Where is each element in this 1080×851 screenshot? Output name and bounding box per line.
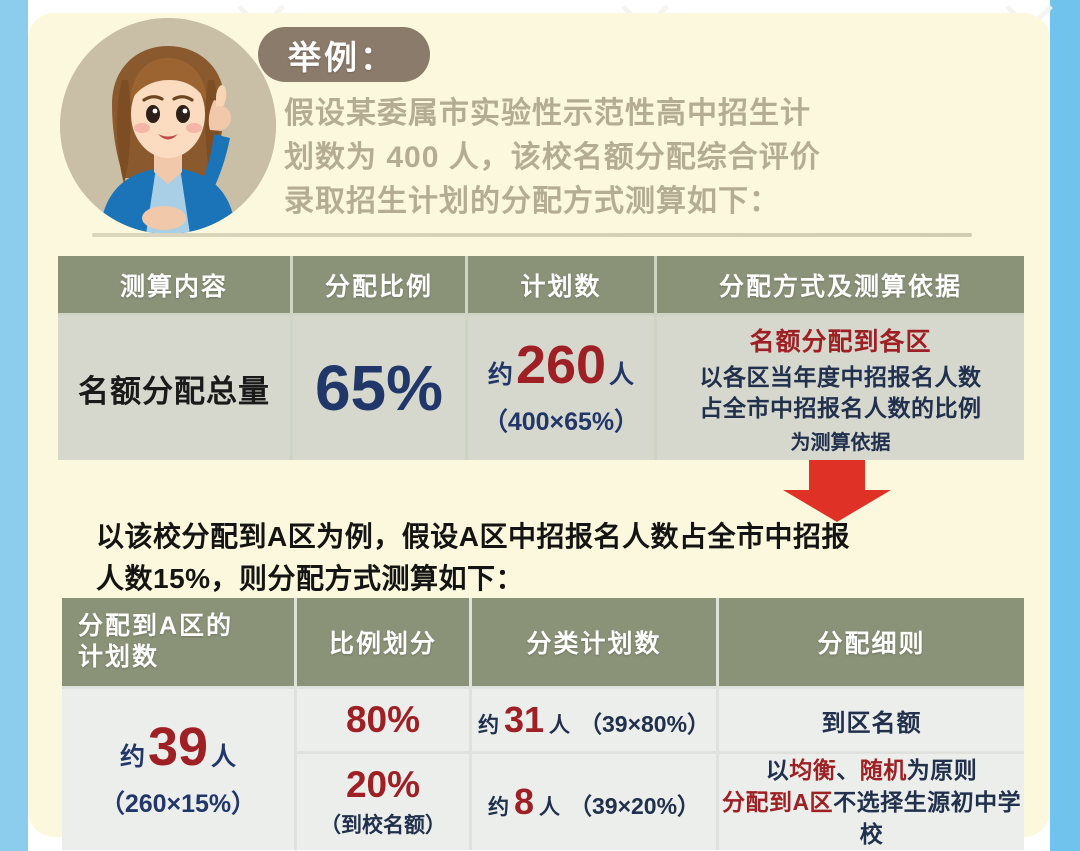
table2-row1-detail-line1: 以均衡、随机为原则	[766, 754, 978, 786]
example-label-text: 举例：	[288, 31, 396, 79]
table1-plan-line: 约 260 人	[488, 338, 634, 392]
table2-header-count: 分类计划数	[472, 598, 716, 686]
table2-header-plan-a-line1: 分配到A区的	[78, 612, 233, 640]
table2-header-plan-a: 分配到A区的 计划数	[62, 598, 294, 686]
table1-basis-line1: 以各区当年度中招报名人数	[700, 362, 982, 393]
table2-plan-a-suffix: 人	[211, 737, 236, 773]
avatar	[60, 18, 276, 234]
table2-row1-detail: 以均衡、随机为原则 分配到A区不选择生源初中学校	[719, 754, 1024, 850]
table1-plan-value: 260	[516, 338, 606, 392]
table2-header-ratio: 比例划分	[297, 598, 469, 686]
intro-line-1: 假设某委属市实验性示范性高中招生计	[284, 92, 924, 136]
table1-header-plan: 计划数	[468, 256, 654, 313]
district-allocation-table: 分配到A区的 计划数 比例划分 分类计划数 分配细则 约 39 人 （260×1…	[62, 598, 1024, 850]
table2-row0-ratio-value: 80%	[346, 700, 420, 741]
table1-header-item: 测算内容	[58, 256, 290, 313]
example-label-pill: 举例：	[258, 27, 430, 82]
allocation-summary-table: 测算内容 分配比例 计划数 分配方式及测算依据 名额分配总量 65% 约 260…	[58, 256, 1024, 460]
table2-row0-count-value: 31	[504, 702, 544, 738]
right-blue-band	[1050, 0, 1080, 851]
table1-cell-basis: 名额分配到各区 以各区当年度中招报名人数 占全市中招报名人数的比例 为测算依据	[657, 316, 1024, 460]
intro-line-3: 录取招生计划的分配方式测算如下：	[284, 180, 924, 224]
table1-basis-title: 名额分配到各区	[749, 322, 931, 358]
table1-plan-formula: （400×65%）	[483, 402, 639, 438]
table2-cell-plan-a: 约 39 人 （260×15%）	[62, 689, 294, 850]
table1-cell-ratio: 65%	[293, 316, 465, 460]
table1-ratio-value: 65%	[315, 356, 443, 420]
down-arrow-red-icon	[779, 460, 895, 522]
table1-plan-suffix: 人	[609, 355, 634, 391]
table1-cell-item: 名额分配总量	[58, 316, 290, 460]
table2-row1-ratio-note: （到校名额）	[320, 809, 446, 839]
table2-row0-count: 约 31 人 （39×80%）	[472, 689, 716, 751]
table2-row1-ratio-value: 20%	[346, 765, 420, 806]
table1-item-label: 名额分配总量	[78, 366, 270, 411]
pointing-woman-icon	[60, 18, 276, 234]
table2-row0-count-prefix: 约	[478, 709, 499, 739]
table2-row0-count-line: 约 31 人 （39×80%）	[478, 702, 710, 739]
table2-row1-count-formula: （39×20%）	[569, 787, 700, 821]
table2-plan-a-prefix: 约	[120, 737, 145, 773]
intro-line-2: 划数为 400 人，该校名额分配综合评价	[284, 136, 924, 180]
table1-cell-plan: 约 260 人 （400×65%）	[468, 316, 654, 460]
table2-header-plan-a-line2: 计划数	[78, 643, 159, 671]
table1-header-ratio: 分配比例	[293, 256, 465, 313]
table2-row1-count-value: 8	[514, 784, 534, 820]
table2-row0-count-suffix: 人	[549, 709, 570, 739]
top-white-strip	[28, 0, 1050, 13]
table2-row1-count: 约 8 人 （39×20%）	[472, 754, 716, 850]
mid-line-1: 以该校分配到A区为例，假设A区中招报名人数占全市中招报	[96, 516, 976, 558]
table1-header-basis: 分配方式及测算依据	[657, 256, 1024, 313]
table2-header-detail: 分配细则	[719, 598, 1024, 686]
table2-row0-count-formula: （39×80%）	[579, 705, 710, 739]
table2-plan-a-line: 约 39 人	[120, 720, 236, 774]
section-divider	[92, 233, 972, 237]
table2-plan-a-formula: （260×15%）	[100, 784, 256, 820]
table2-row0-ratio: 80%	[297, 689, 469, 751]
table2-row1-count-prefix: 约	[488, 791, 509, 821]
left-blue-band	[0, 0, 28, 851]
table2-row0-detail-text: 到区名额	[822, 703, 922, 738]
intro-paragraph: 假设某委属市实验性示范性高中招生计 划数为 400 人，该校名额分配综合评价 录…	[284, 92, 924, 224]
table2-row1-detail-line2: 分配到A区不选择生源初中学校	[719, 786, 1024, 850]
table2-row1-ratio: 20% （到校名额）	[297, 754, 469, 850]
table1-plan-prefix: 约	[488, 355, 513, 391]
mid-paragraph: 以该校分配到A区为例，假设A区中招报名人数占全市中招报 人数15%，则分配方式测…	[96, 516, 976, 600]
table2-row1-count-line: 约 8 人 （39×20%）	[488, 784, 700, 821]
table2-plan-a-value: 39	[148, 720, 208, 774]
table2-row1-count-suffix: 人	[539, 791, 560, 821]
infographic-page: 举例： 假设某委属市实验性示范性高中招生计 划数为 400 人，该校名额分配综合…	[0, 0, 1080, 851]
table2-row0-detail: 到区名额	[719, 689, 1024, 751]
mid-line-2: 人数15%，则分配方式测算如下：	[96, 558, 976, 600]
table1-basis-line3: 为测算依据	[791, 426, 891, 455]
table1-basis-line2: 占全市中招报名人数的比例	[700, 393, 982, 424]
